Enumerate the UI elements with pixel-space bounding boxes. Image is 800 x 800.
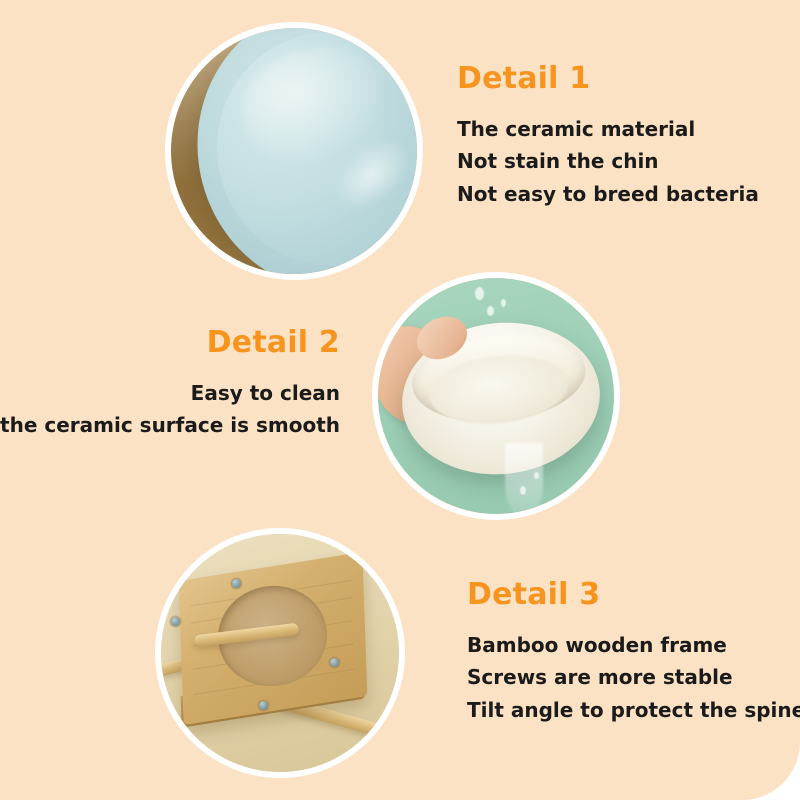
- detail-1-title: Detail 1: [457, 62, 759, 95]
- photo-inner-2: [378, 278, 614, 514]
- photo-inner-1: [171, 28, 417, 274]
- screw: [259, 701, 268, 710]
- screw: [171, 617, 180, 626]
- detail-3-title: Detail 3: [467, 578, 800, 611]
- detail-1-line-3: Not easy to breed bacteria: [457, 178, 759, 210]
- detail-3-line-3: Tilt angle to protect the spine: [467, 694, 800, 726]
- detail-1-line-2: Not stain the chin: [457, 145, 759, 177]
- detail-3-text-block: Detail 3 Bamboo wooden frame Screws are …: [467, 578, 800, 726]
- washing-bowl-photo: [372, 272, 620, 520]
- detail-2-line-1: Easy to clean: [0, 377, 340, 409]
- product-detail-infographic: Detail 1 The ceramic material Not stain …: [0, 0, 800, 800]
- water-droplet: [534, 472, 539, 479]
- water-droplet: [520, 486, 526, 495]
- photo-inner-3: [161, 534, 399, 772]
- blue-ceramic-bowl-photo: [165, 22, 423, 280]
- detail-1-line-1: The ceramic material: [457, 113, 759, 145]
- detail-2-line-2: the ceramic surface is smooth: [0, 409, 340, 441]
- water-stream: [505, 443, 543, 514]
- screw: [330, 658, 339, 667]
- detail-1-text-block: Detail 1 The ceramic material Not stain …: [457, 62, 759, 210]
- water-droplet: [501, 299, 506, 307]
- bamboo-frame-photo: [155, 528, 405, 778]
- detail-2-text-block: Detail 2 Easy to clean the ceramic surfa…: [0, 326, 340, 442]
- detail-3-line-2: Screws are more stable: [467, 661, 800, 693]
- water-droplet: [487, 306, 494, 316]
- detail-3-line-1: Bamboo wooden frame: [467, 629, 800, 661]
- detail-2-title: Detail 2: [0, 326, 340, 359]
